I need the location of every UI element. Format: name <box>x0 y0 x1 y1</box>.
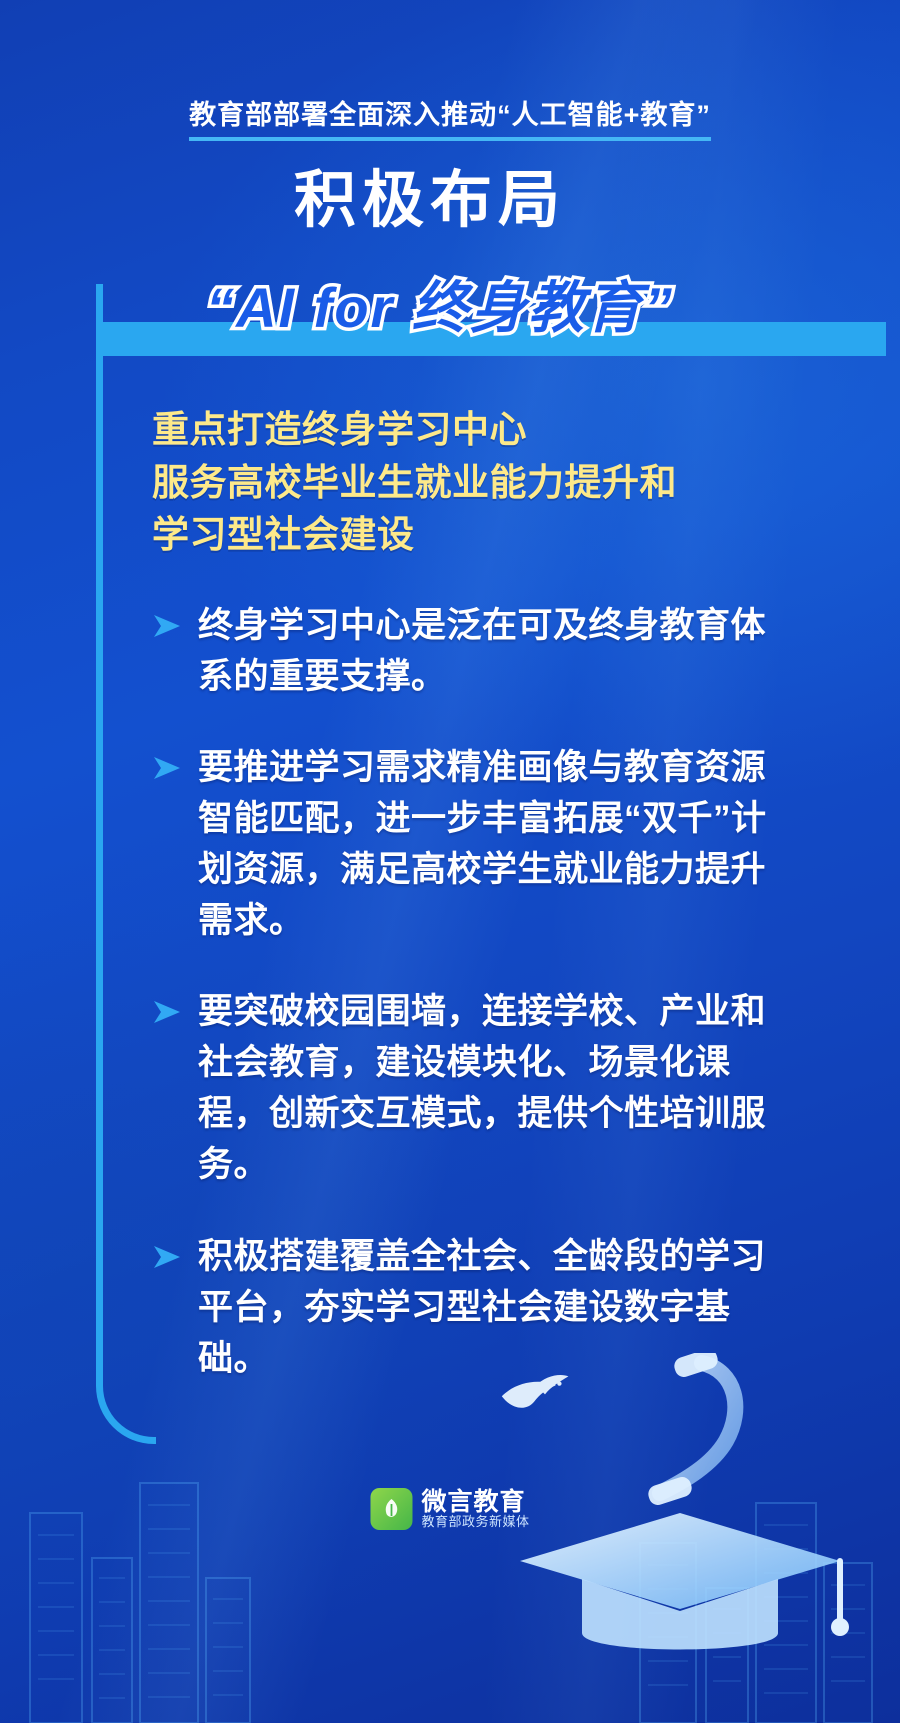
left-bracket-decoration <box>96 284 156 1444</box>
page-title: 积极布局 <box>0 168 900 235</box>
bullet-list: 终身学习中心是泛在可及终身教育体系的重要支撑。 要推进学习需求精准画像与教育资源… <box>152 600 782 1384</box>
footer-logo-text: 微言教育 教育部政务新媒体 <box>421 1489 529 1529</box>
lead-heading: 重点打造终身学习中心 服务高校毕业生就业能力提升和 学习型社会建设 <box>152 404 782 562</box>
list-item: 要突破校园围墙，连接学校、产业和社会教育，建设模块化、场景化课程，创新交互模式，… <box>152 986 782 1190</box>
poster-root: 教育部部署全面深入推动“人工智能+教育” 积极布局 “AI for 终身教育” … <box>0 0 900 1723</box>
triangle-right-icon <box>152 1245 186 1269</box>
lead-heading-line-1: 重点打造终身学习中心 <box>152 404 782 457</box>
footer-logo-subtitle: 教育部政务新媒体 <box>421 1515 529 1529</box>
list-item: 积极搭建覆盖全社会、全龄段的学习平台，夯实学习型社会建设数字基础。 <box>152 1231 782 1384</box>
triangle-right-icon <box>152 756 186 780</box>
triangle-right-icon <box>152 614 186 638</box>
content-column: 重点打造终身学习中心 服务高校毕业生就业能力提升和 学习型社会建设 终身学习中心… <box>152 404 782 1424</box>
list-item-text: 积极搭建覆盖全社会、全龄段的学习平台，夯实学习型社会建设数字基础。 <box>198 1231 782 1384</box>
list-item-text: 要突破校园围墙，连接学校、产业和社会教育，建设模块化、场景化课程，创新交互模式，… <box>198 986 782 1190</box>
footer-logo: 微言教育 教育部政务新媒体 <box>370 1488 529 1530</box>
lead-heading-line-3: 学习型社会建设 <box>152 509 782 562</box>
header-title: 教育部部署全面深入推动“人工智能+教育” <box>189 93 711 141</box>
green-hand-leaf-icon <box>370 1488 412 1530</box>
list-item: 终身学习中心是泛在可及终身教育体系的重要支撑。 <box>152 600 782 702</box>
list-item: 要推进学习需求精准画像与教育资源智能匹配，进一步丰富拓展“双千”计划资源，满足高… <box>152 742 782 946</box>
footer-logo-title: 微言教育 <box>421 1489 529 1515</box>
triangle-right-icon <box>152 1000 186 1024</box>
page-subtitle: “AI for 终身教育” <box>0 263 900 344</box>
header: 教育部部署全面深入推动“人工智能+教育” <box>0 93 900 141</box>
list-item-text: 终身学习中心是泛在可及终身教育体系的重要支撑。 <box>198 600 782 702</box>
list-item-text: 要推进学习需求精准画像与教育资源智能匹配，进一步丰富拓展“双千”计划资源，满足高… <box>198 742 782 946</box>
lead-heading-line-2: 服务高校毕业生就业能力提升和 <box>152 457 782 510</box>
